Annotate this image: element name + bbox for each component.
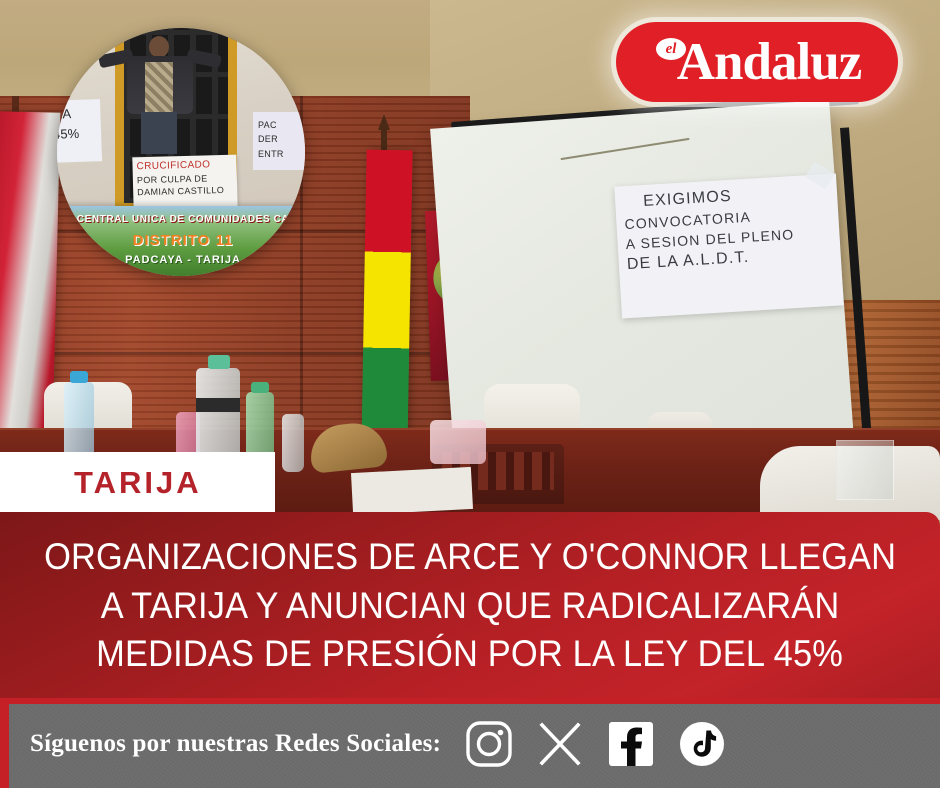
instagram-icon[interactable] <box>463 718 515 770</box>
handwritten-demand-sign: EXIGIMOS CONVOCATORIA A SESION DEL PLENO… <box>614 174 843 319</box>
category-tag-label: TARIJA <box>0 465 202 501</box>
inset-sign-left-line-1: GA <box>57 103 101 124</box>
headline-line-3: MEDIDAS DE PRESIÓN POR LA LEY DEL 45% <box>97 630 844 679</box>
thermos <box>196 368 240 464</box>
inset-circle-photo: GA 45% PAC DER ENTR CRUCIFICADO POR CULP… <box>57 28 305 276</box>
headline-line-2: A TARIJA Y ANUNCIAN QUE RADICALIZARÁN <box>101 582 840 631</box>
facebook-icon[interactable] <box>605 718 657 770</box>
footer-bar: Síguenos por nuestras Redes Sociales: <box>0 700 940 788</box>
headline-block: ORGANIZACIONES DE ARCE Y O'CONNOR LLEGAN… <box>0 512 940 700</box>
tiktok-icon[interactable] <box>676 718 728 770</box>
plastic-bag <box>430 420 486 464</box>
organization-banner: CENTRAL UNICA DE COMUNIDADES CA DISTRITO… <box>57 206 305 276</box>
inset-sign-center: CRUCIFICADO POR CULPA DE DAMIAN CASTILLO <box>132 155 237 212</box>
inset-sign-right-line-1: PAC <box>258 118 305 132</box>
follow-us-label: Síguenos por nuestras Redes Sociales: <box>0 730 441 758</box>
inset-sign-right-line-3: ENTR <box>258 147 305 161</box>
footer-red-top-strip <box>0 698 940 704</box>
glass-jug <box>836 440 894 500</box>
social-icons-group <box>441 718 728 770</box>
brand-logo[interactable]: el Andaluz <box>616 22 898 102</box>
headline-line-1: ORGANIZACIONES DE ARCE Y O'CONNOR LLEGAN <box>44 533 896 582</box>
inset-sign-left-line-2: 45% <box>57 123 101 144</box>
news-graphic-card: EXIGIMOS CONVOCATORIA A SESION DEL PLENO… <box>0 0 940 788</box>
water-bottle <box>64 382 94 460</box>
banner-line-1: CENTRAL UNICA DE COMUNIDADES CA <box>57 214 305 225</box>
inset-sign-right: PAC DER ENTR <box>253 112 305 170</box>
logo-el-badge: el <box>656 38 686 60</box>
inset-sign-right-line-2: DER <box>258 132 305 146</box>
bolivia-flag <box>361 150 412 451</box>
protester-legs <box>141 112 177 154</box>
banner-line-3: PADCAYA - TARIJA <box>57 254 305 266</box>
inset-sign-center-line-3: DAMIAN CASTILLO <box>137 183 237 198</box>
papers <box>351 467 473 515</box>
banner-line-2: DISTRITO 11 <box>57 232 305 249</box>
footer-red-left-strip <box>0 698 9 788</box>
x-icon[interactable] <box>534 718 586 770</box>
inset-sign-left: GA 45% <box>57 99 102 163</box>
water-bottle <box>282 414 304 472</box>
protester-shirt <box>145 62 173 114</box>
protester-head <box>149 36 169 58</box>
category-tag: TARIJA <box>0 452 275 513</box>
